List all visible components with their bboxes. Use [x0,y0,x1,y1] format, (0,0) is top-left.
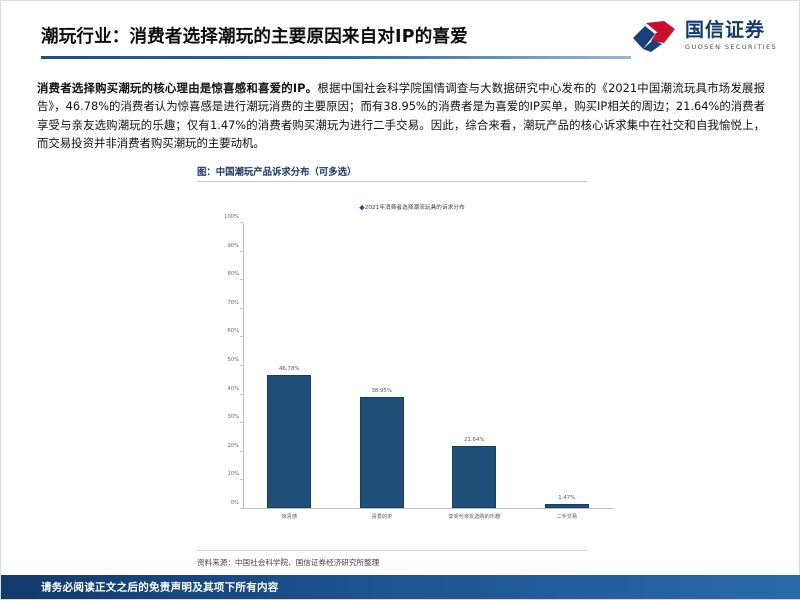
bar-slot: 38.95% [336,223,429,508]
y-axis-tick-label: 10% [227,471,239,477]
figure-caption: 图：中国潮玩产品诉求分布（可多选） [197,164,627,178]
y-axis-tick-label: 40% [227,386,239,392]
x-axis-category-label: 二手交易 [521,513,614,529]
chart-title-text: 2021年消费者选择潮流玩具的诉求分布 [365,205,465,211]
bar-4[interactable] [545,504,589,508]
page-title: 潮玩行业：消费者选择潮玩的主要原因来自对IP的喜爱 [41,23,621,48]
bar-slot: 1.47% [521,223,614,508]
slide-root: 潮玩行业：消费者选择潮玩的主要原因来自对IP的喜爱 国信证券 GUOSEN SE… [0,0,800,600]
brand-logo: 国信证券 GUOSEN SECURITIES [631,19,777,53]
y-axis-tick-label: 0% [231,500,239,506]
y-axis-tick-label: 80% [227,271,239,277]
bar-1[interactable] [267,375,311,508]
y-axis-tick-label: 60% [227,328,239,334]
y-axis-tick-label: 90% [227,243,239,249]
chart-container: ◆2021年消费者选择潮流玩具的诉求分布 0%10%20%30%40%50%60… [197,191,627,541]
brand-name-cn: 国信证券 [685,21,777,41]
bar-slot: 21.64% [428,223,521,508]
chart-plot-area: 0%10%20%30%40%50%60%70%80%90%100% 46.78%… [243,223,613,509]
x-axis-line [243,508,613,509]
body-lead-sentence: 消费者选择购买潮玩的核心理由是惊喜感和喜爱的IP。 [37,81,317,95]
guosen-diamond-icon [631,19,677,53]
y-axis-tick-label: 70% [227,300,239,306]
slide-footer: 请务必阅读正文之后的免责声明及其项下所有内容 [1,575,800,599]
bar-value-label: 46.78% [279,366,300,372]
bar-value-label: 38.95% [371,388,392,394]
brand-logo-text: 国信证券 GUOSEN SECURITIES [685,21,777,52]
bar-value-label: 1.47% [558,495,575,501]
bar-series-group: 46.78%38.95%21.64%1.47% [243,223,613,508]
body-content: 消费者选择购买潮玩的核心理由是惊喜感和喜爱的IP。根据中国社会科学院国情调查与大… [37,79,765,153]
page-title-wrapper: 潮玩行业：消费者选择潮玩的主要原因来自对IP的喜爱 [41,23,621,48]
source-divider [197,550,587,551]
bar-3[interactable] [452,446,496,508]
x-axis-label-group: 惊喜感喜爱的IP享受与亲友选购的乐趣二手交易 [243,513,613,529]
y-axis-tick-label: 50% [227,357,239,363]
chart-title: ◆2021年消费者选择潮流玩具的诉求分布 [197,203,627,212]
slide-header: 潮玩行业：消费者选择潮玩的主要原因来自对IP的喜爱 国信证券 GUOSEN SE… [1,1,800,71]
bar-slot: 46.78% [243,223,336,508]
figure-caption-rule [197,181,587,182]
footer-disclaimer: 请务必阅读正文之后的免责声明及其项下所有内容 [41,580,279,595]
bar-2[interactable] [360,397,404,508]
bar-value-label: 21.64% [464,437,485,443]
x-axis-category-label: 喜爱的IP [336,513,429,529]
y-axis-tick-label: 100% [224,214,239,220]
figure-source: 资料来源：中国社会科学院、国信证券经济研究所整理 [197,557,627,568]
y-axis-tick-mark [240,508,243,509]
body-paragraph: 消费者选择购买潮玩的核心理由是惊喜感和喜爱的IP。根据中国社会科学院国情调查与大… [37,79,765,153]
title-underline-rule [41,56,631,59]
y-axis-tick-label: 30% [227,414,239,420]
y-axis-tick-label: 20% [227,443,239,449]
x-axis-category-label: 惊喜感 [243,513,336,529]
x-axis-category-label: 享受与亲友选购的乐趣 [428,513,521,529]
brand-name-en: GUOSEN SECURITIES [685,43,777,51]
